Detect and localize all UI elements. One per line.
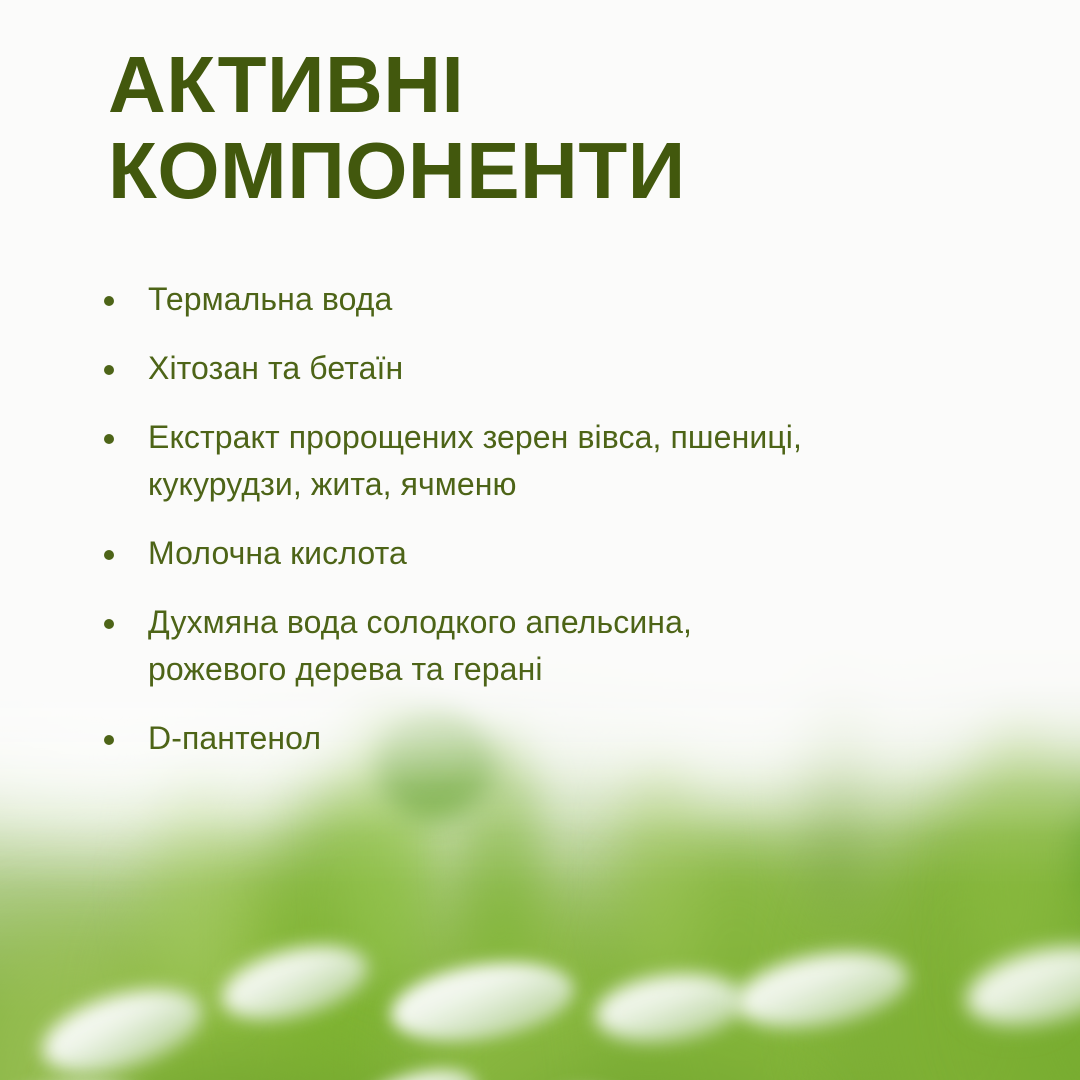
bullet-dot-icon xyxy=(104,550,114,560)
ingredients-list: Термальна вода Хітозан та бетаїн Екстрак… xyxy=(104,276,984,762)
list-item-label: Екстракт пророщених зерен вівса, пшениці… xyxy=(148,414,984,508)
list-item-label: Термальна вода xyxy=(148,276,984,323)
poster-canvas: АКТИВНІ КОМПОНЕНТИ Термальна вода Хітоза… xyxy=(0,0,1080,1080)
bullet-dot-icon xyxy=(104,434,114,444)
bullet-dot-icon xyxy=(104,619,114,629)
list-item-label: D-пантенол xyxy=(148,715,984,762)
bullet-dot-icon xyxy=(104,735,114,745)
text-layer: АКТИВНІ КОМПОНЕНТИ Термальна вода Хітоза… xyxy=(0,0,1080,1080)
list-item-label: Духмяна вода солодкого апельсина, рожево… xyxy=(148,599,984,693)
list-item: Термальна вода xyxy=(104,276,984,323)
page-title: АКТИВНІ КОМПОНЕНТИ xyxy=(108,42,928,214)
list-item: Молочна кислота xyxy=(104,530,984,577)
list-item: D-пантенол xyxy=(104,715,984,762)
page-title-line-2: КОМПОНЕНТИ xyxy=(108,128,928,214)
page-title-line-1: АКТИВНІ xyxy=(108,42,928,128)
list-item-label: Хітозан та бетаїн xyxy=(148,345,984,392)
list-item: Хітозан та бетаїн xyxy=(104,345,984,392)
bullet-dot-icon xyxy=(104,296,114,306)
list-item: Екстракт пророщених зерен вівса, пшениці… xyxy=(104,414,984,508)
list-item: Духмяна вода солодкого апельсина, рожево… xyxy=(104,599,984,693)
list-item-label: Молочна кислота xyxy=(148,530,984,577)
bullet-dot-icon xyxy=(104,365,114,375)
